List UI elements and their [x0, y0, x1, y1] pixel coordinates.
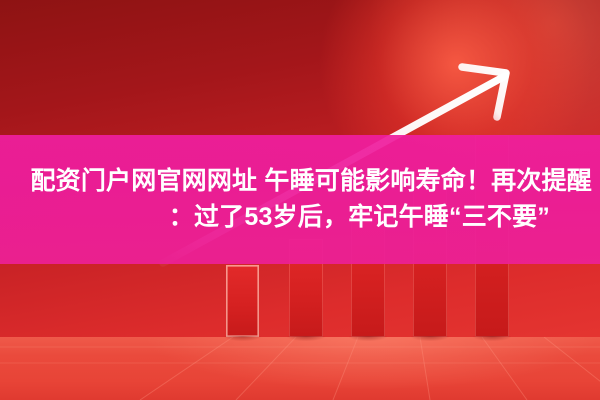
headline-text-block: 配资门户网官网网址 午睡可能影响寿命！再次提醒 ：过了53岁后，牢记午睡“三不要…	[0, 135, 600, 264]
headline-line-2: ：过了53岁后，牢记午睡“三不要”	[169, 200, 550, 236]
headline-line-1: 配资门户网官网网址 午睡可能影响寿命！再次提醒	[30, 164, 592, 200]
banner-image: 配资门户网官网网址 午睡可能影响寿命！再次提醒 ：过了53岁后，牢记午睡“三不要…	[0, 0, 600, 400]
chart-bar-1	[226, 265, 259, 337]
